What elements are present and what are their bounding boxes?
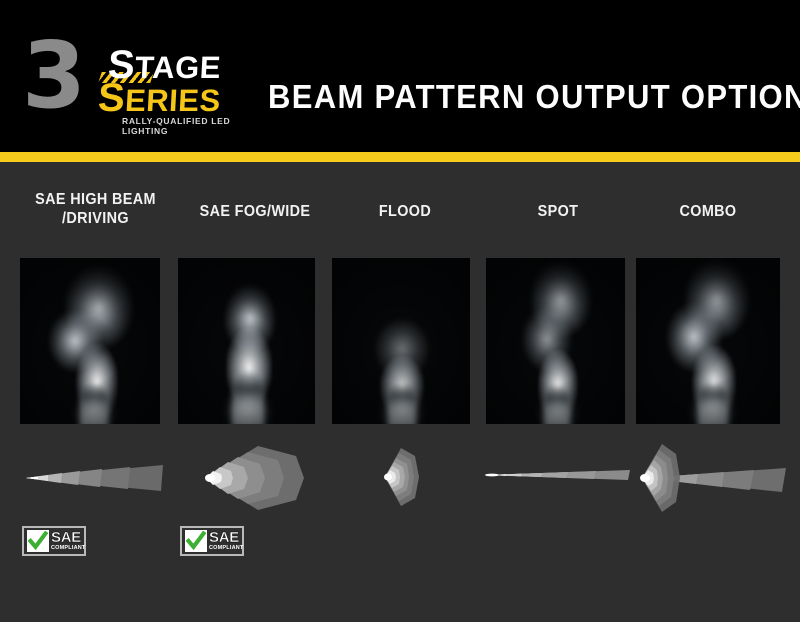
sae-compliant-badge-fog-wide: SAE COMPLIANT [180,526,244,556]
sae-badge-sub: COMPLIANT [51,546,86,552]
logo-tagline: RALLY-QUALIFIED LED LIGHTING [122,116,252,136]
column-label-sae-high-beam-driving: SAE HIGH BEAM /DRIVING [17,190,175,228]
beam-diagram-flood [381,446,425,508]
stage-series-logo: 3 STAGE SERIES RALLY-QUALIFIED LED LIGHT… [22,28,252,126]
sae-badge-main: SAE [51,530,86,545]
beam-photo-flood[interactable] [332,258,470,424]
check-icon [186,531,206,551]
page-title: BEAM PATTERN OUTPUT OPTIONS [268,80,800,113]
header-bar: 3 STAGE SERIES RALLY-QUALIFIED LED LIGHT… [0,0,800,152]
beam-photo-sae-fog-wide[interactable] [178,258,315,424]
beam-photo-sae-high-beam-driving[interactable] [20,258,160,424]
beam-diagram-spot [484,454,630,496]
column-label-combo: COMBO [641,202,776,221]
sae-badge-sub: COMPLIANT [209,546,244,552]
beam-diagram-combo [630,442,786,514]
logo-word-series: SERIES [97,83,221,116]
column-label-flood: FLOOD [338,202,473,221]
sae-check-box [185,530,207,552]
beam-photo-spot[interactable] [486,258,625,424]
check-icon [28,531,48,551]
logo-numeral-3: 3 [22,30,82,122]
beam-diagram-sae-fog-wide [200,444,312,512]
sae-badge-text: SAE COMPLIANT [209,530,244,552]
column-label-spot: SPOT [491,202,626,221]
sae-check-box [27,530,49,552]
yellow-divider [0,152,800,162]
beam-photo-combo[interactable] [636,258,780,424]
sae-badge-text: SAE COMPLIANT [51,530,86,552]
sae-compliant-badge-high-beam: SAE COMPLIANT [22,526,86,556]
beam-diagram-sae-high-beam-driving [18,447,163,509]
beam-comparison-board: SAE HIGH BEAM /DRIVING SAE FOG/WIDE FLOO… [0,162,800,622]
sae-badge-main: SAE [209,530,244,545]
column-label-sae-fog-wide: SAE FOG/WIDE [183,202,327,221]
